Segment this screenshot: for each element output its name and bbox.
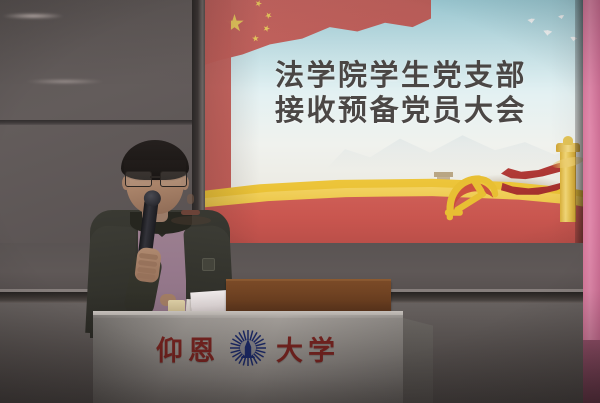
- wall-edge-strip-shadow: [583, 340, 600, 403]
- flag-star-small: [254, 0, 263, 8]
- slide-title-line-1: 法学院学生党支部: [205, 58, 597, 93]
- mouth: [181, 210, 200, 215]
- podium-top-edge: [93, 311, 403, 318]
- podium-mark-left: 仰恩: [156, 329, 220, 368]
- podium-mark-right: 大学: [276, 329, 340, 368]
- chin-shadow: [171, 216, 211, 225]
- podium-university-mark: 仰恩: [93, 327, 403, 369]
- finger: [136, 273, 155, 280]
- dove-icon: [527, 18, 535, 25]
- wooden-board: [226, 281, 391, 315]
- glasses-bridge: [150, 176, 160, 178]
- eyeglasses-icon: [123, 171, 187, 186]
- party-emblem-hammer-sickle-icon: [441, 170, 499, 222]
- jacket-pocket-badge: [202, 258, 215, 271]
- finger: [139, 253, 158, 260]
- university-sunburst-logo: [228, 328, 268, 368]
- light-reflection: [2, 13, 64, 19]
- huabiao-finial: [563, 136, 573, 145]
- speaker-hand: [134, 247, 162, 284]
- photograph: 法学院学生党支部 接收预备党员大会: [0, 0, 600, 403]
- wall-seam: [0, 120, 196, 125]
- flag-star-small: [252, 35, 260, 43]
- podium-side-face: [403, 318, 433, 403]
- projection-screen: 法学院学生党支部 接收预备党员大会: [205, 0, 597, 243]
- slide-title-line-2: 接收预备党员大会: [205, 93, 597, 128]
- light-reflection: [26, 79, 104, 84]
- slide-title: 法学院学生党支部 接收预备党员大会: [205, 58, 597, 128]
- nose: [187, 194, 194, 204]
- dove-icon: [543, 30, 553, 38]
- lens-left: [125, 171, 152, 187]
- finger: [138, 260, 157, 267]
- lens-right: [160, 171, 187, 187]
- wall-edge-strip: [583, 0, 600, 340]
- flag-star-small: [264, 11, 274, 21]
- flag-star-small: [262, 24, 271, 33]
